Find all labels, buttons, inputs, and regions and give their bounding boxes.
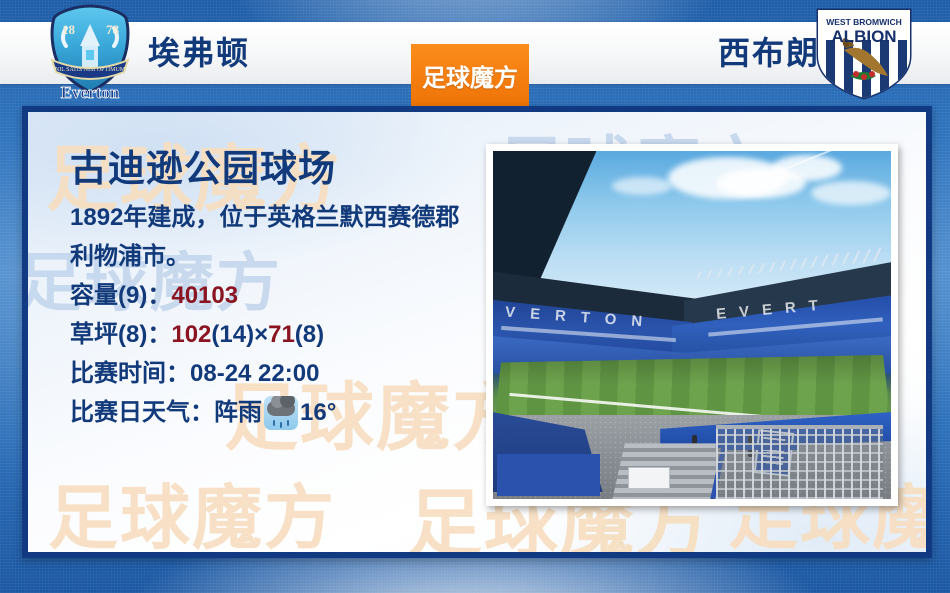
match-time-row: 比赛时间：08-24 22:00	[70, 354, 490, 393]
rain-shower-icon	[264, 396, 298, 430]
svg-text:ALBION: ALBION	[831, 27, 896, 46]
svg-text:78: 78	[106, 22, 120, 37]
capacity-row: 容量(9)：40103	[70, 276, 490, 315]
pitch-width-rank: (8)	[295, 321, 324, 348]
pitch-row: 草坪(8)：102(14)×71(8)	[70, 315, 490, 354]
watermark: 足球魔方	[48, 462, 336, 558]
capacity-value: 40103	[171, 282, 238, 309]
match-time-label: 比赛时间：	[70, 360, 190, 387]
capacity-label: 容量(9)：	[70, 282, 171, 309]
weather-condition: 阵雨	[214, 393, 262, 432]
stadium-photo: VERTON EVERT	[493, 151, 891, 499]
pitch-length: 102	[171, 321, 211, 348]
photo-seat-block	[497, 454, 600, 496]
match-weather-row: 比赛日天气：阵雨16°	[70, 393, 490, 432]
weather-temperature: 16°	[300, 393, 336, 432]
weather-label: 比赛日天气：	[70, 393, 214, 432]
stadium-title: 古迪逊公园球场	[70, 144, 490, 194]
stadium-info-text: 古迪逊公园球场 1892年建成，位于英格兰默西赛德郡利物浦市。 容量(9)：40…	[70, 144, 490, 432]
svg-text:NIL SATIS NISI OPTIMUM: NIL SATIS NISI OPTIMUM	[55, 67, 126, 73]
site-logo-text: 足球魔方	[422, 58, 518, 93]
stadium-photo-frame: VERTON EVERT	[486, 144, 898, 506]
stadium-description: 1892年建成，位于英格兰默西赛德郡利物浦市。	[70, 198, 470, 276]
photo-wall-sign	[628, 467, 670, 489]
pitch-times-symbol: ×	[254, 321, 268, 348]
pitch-width: 71	[268, 321, 295, 348]
site-logo[interactable]: 足球魔方	[411, 44, 529, 106]
match-time-value: 08-24 22:00	[190, 360, 319, 387]
stadium-info-panel: 足球魔方 足球魔方 足球魔方 足球魔方 足球魔方 足球魔方 足球魔方 古迪逊公园…	[22, 106, 932, 558]
away-team-name: 西布朗	[718, 22, 820, 84]
svg-text:18: 18	[62, 22, 76, 37]
photo-railing	[716, 425, 883, 499]
svg-text:Everton: Everton	[61, 83, 120, 102]
west-bromwich-albion-crest-icon: WEST BROMWICH ALBION	[806, 4, 922, 102]
home-team-name: 埃弗顿	[148, 22, 250, 84]
everton-crest-icon: 18 78 NIL SATIS NISI OPTIMUM Everton	[36, 2, 144, 102]
pitch-length-rank: (14)	[211, 321, 254, 348]
pitch-label: 草坪(8)：	[70, 321, 171, 348]
svg-text:WEST BROMWICH: WEST BROMWICH	[826, 17, 902, 27]
